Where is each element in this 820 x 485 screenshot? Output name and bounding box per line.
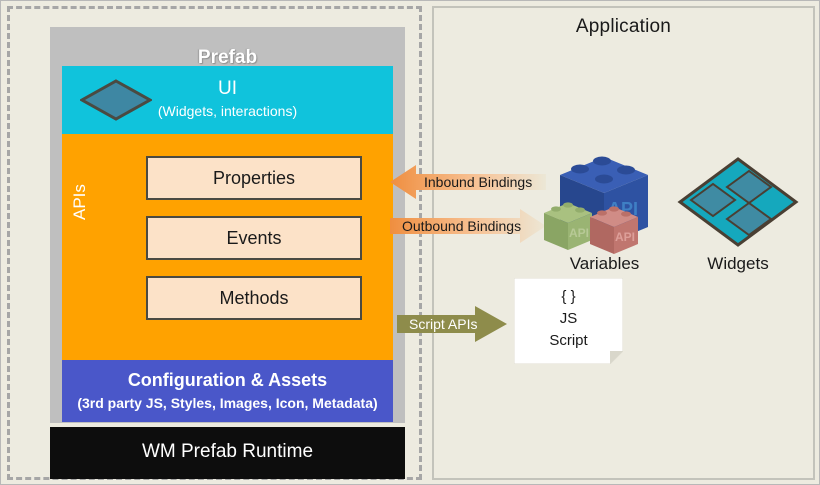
diagram-canvas: Prefab UI (Widgets, interactions) APIs P…: [0, 0, 820, 485]
js-note-line-3: Script: [514, 330, 623, 352]
svg-text:API: API: [615, 230, 635, 244]
configuration-assets-layer: Configuration & Assets (3rd party JS, St…: [62, 360, 393, 422]
api-item-properties[interactable]: Properties: [146, 156, 362, 200]
ui-layer-label: UI: [62, 78, 393, 100]
configuration-label: Configuration & Assets: [62, 370, 393, 391]
api-item-methods[interactable]: Methods: [146, 276, 362, 320]
inbound-bindings-arrow: Inbound Bindings: [390, 164, 546, 200]
widgets-diamond-icon: [677, 156, 799, 248]
prefab-scope-panel: Prefab UI (Widgets, interactions) APIs P…: [7, 6, 422, 480]
inbound-bindings-label: Inbound Bindings: [424, 164, 532, 200]
variables-label: Variables: [532, 254, 677, 274]
prefab-runtime-label: WM Prefab Runtime: [50, 441, 405, 463]
apis-layer: APIs Properties Events Methods: [62, 134, 393, 360]
outbound-bindings-label: Outbound Bindings: [402, 208, 521, 244]
outbound-bindings-arrow: Outbound Bindings: [390, 208, 546, 244]
apis-side-label: APIs: [70, 184, 90, 220]
js-script-note-text: { } JS Script: [514, 286, 623, 352]
application-panel-title: Application: [434, 16, 813, 38]
prefab-container: Prefab UI (Widgets, interactions) APIs P…: [50, 27, 405, 423]
ui-layer: UI (Widgets, interactions): [62, 66, 393, 134]
js-script-note: { } JS Script: [514, 278, 623, 364]
script-apis-arrow: Script APIs: [397, 304, 507, 344]
svg-text:API: API: [569, 226, 589, 240]
ui-layer-sublabel: (Widgets, interactions): [62, 103, 393, 119]
prefab-runtime-bar: WM Prefab Runtime: [50, 427, 405, 479]
widgets-label: Widgets: [673, 254, 803, 274]
api-item-events[interactable]: Events: [146, 216, 362, 260]
script-apis-label: Script APIs: [409, 304, 477, 344]
js-note-line-1: { }: [514, 286, 623, 308]
lego-blocks-icon: API API API: [542, 153, 667, 258]
js-note-line-2: JS: [514, 308, 623, 330]
configuration-sublabel: (3rd party JS, Styles, Images, Icon, Met…: [62, 395, 393, 411]
